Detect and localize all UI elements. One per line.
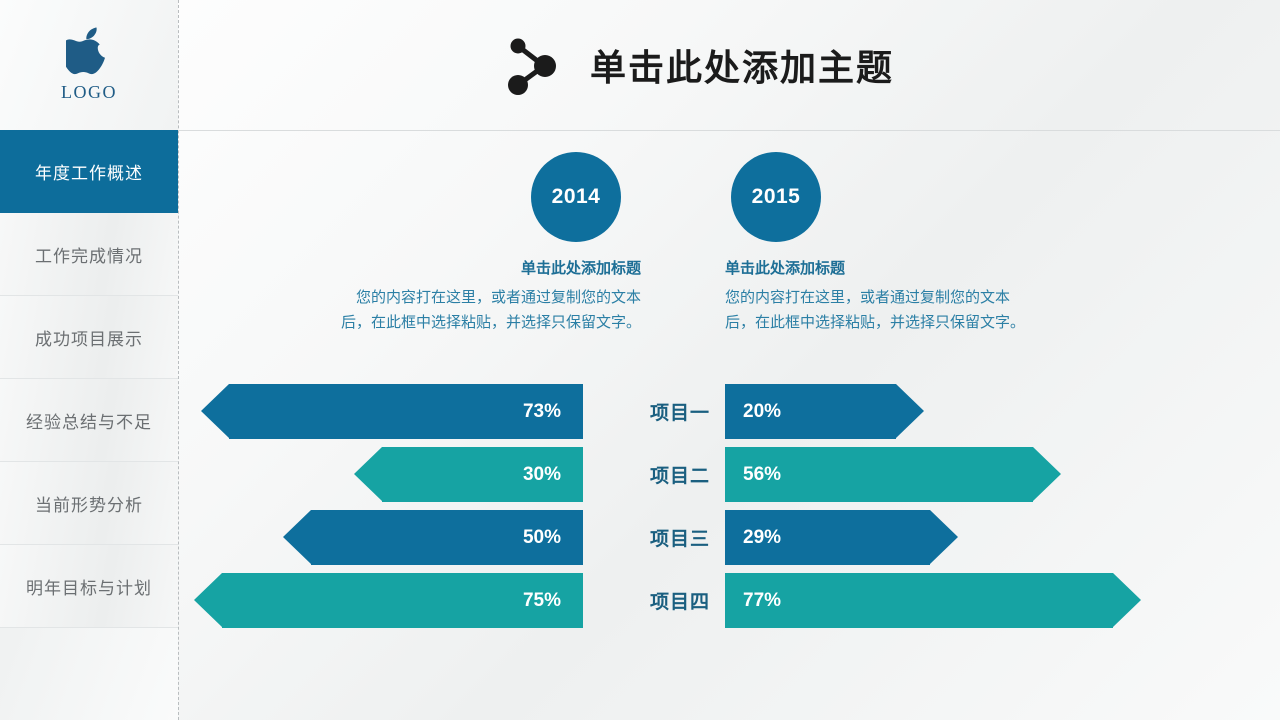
year-label: 2015 bbox=[752, 185, 801, 209]
text-block-title: 单击此处添加标题 bbox=[725, 257, 1025, 278]
bar-right-2[interactable]: 29% bbox=[725, 510, 930, 565]
year-label: 2014 bbox=[552, 185, 601, 209]
text-block-left: 单击此处添加标题 您的内容打在这里，或者通过复制您的文本后，在此框中选择粘贴，并… bbox=[341, 257, 641, 335]
arrow-head-right-icon bbox=[1033, 447, 1061, 501]
bar-value-label: 73% bbox=[523, 401, 561, 423]
logo-label: LOGO bbox=[61, 82, 117, 103]
sidebar-item-label: 年度工作概述 bbox=[35, 159, 143, 184]
text-block-body: 您的内容打在这里，或者通过复制您的文本后，在此框中选择粘贴，并选择只保留文字。 bbox=[341, 285, 641, 335]
bar-value-label: 20% bbox=[743, 401, 781, 423]
header-divider bbox=[178, 130, 1280, 131]
arrow-head-left-icon bbox=[283, 510, 311, 564]
category-label-1: 项目二 bbox=[645, 447, 715, 502]
category-label-2: 项目三 bbox=[645, 510, 715, 565]
text-block-body: 您的内容打在这里，或者通过复制您的文本后，在此框中选择粘贴，并选择只保留文字。 bbox=[725, 285, 1025, 335]
text-block-right: 单击此处添加标题 您的内容打在这里，或者通过复制您的文本后，在此框中选择粘贴，并… bbox=[725, 257, 1025, 335]
slide-header: 单击此处添加主题 bbox=[178, 0, 1280, 130]
sidebar-item-label: 工作完成情况 bbox=[35, 242, 143, 267]
bar-left-3[interactable]: 75% bbox=[222, 573, 583, 628]
arrow-head-right-icon bbox=[896, 384, 924, 438]
bar-value-label: 30% bbox=[523, 464, 561, 486]
year-badge-2014: 2014 bbox=[531, 152, 621, 242]
share-nodes-icon bbox=[504, 34, 562, 96]
year-badge-2015: 2015 bbox=[731, 152, 821, 242]
bar-left-2[interactable]: 50% bbox=[311, 510, 584, 565]
page-title: 单击此处添加主题 bbox=[590, 39, 894, 91]
arrow-head-right-icon bbox=[930, 510, 958, 564]
bidirectional-bar-chart: 73% 项目一 20% 30% 项目二 56% bbox=[0, 384, 1280, 636]
apple-logo-icon bbox=[66, 27, 112, 81]
bar-right-0[interactable]: 20% bbox=[725, 384, 896, 439]
arrow-head-left-icon bbox=[201, 384, 229, 438]
sidebar-item-label: 成功项目展示 bbox=[35, 325, 143, 350]
arrow-head-right-icon bbox=[1113, 573, 1141, 627]
text-block-title: 单击此处添加标题 bbox=[341, 257, 641, 278]
bar-value-label: 77% bbox=[743, 590, 781, 612]
bar-right-3[interactable]: 77% bbox=[725, 573, 1113, 628]
bar-value-label: 29% bbox=[743, 527, 781, 549]
logo-area: LOGO bbox=[0, 0, 178, 130]
chart-row-0: 73% 项目一 20% bbox=[0, 384, 1280, 447]
arrow-head-left-icon bbox=[354, 447, 382, 501]
bar-left-1[interactable]: 30% bbox=[382, 447, 584, 502]
sidebar-item-1[interactable]: 工作完成情况 bbox=[0, 213, 178, 296]
chart-row-3: 75% 项目四 77% bbox=[0, 573, 1280, 636]
arrow-head-left-icon bbox=[194, 573, 222, 627]
bar-right-1[interactable]: 56% bbox=[725, 447, 1033, 502]
chart-row-1: 30% 项目二 56% bbox=[0, 447, 1280, 510]
bar-left-0[interactable]: 73% bbox=[229, 384, 583, 439]
sidebar-item-2[interactable]: 成功项目展示 bbox=[0, 296, 178, 379]
bar-value-label: 75% bbox=[523, 590, 561, 612]
bar-value-label: 50% bbox=[523, 527, 561, 549]
category-label-0: 项目一 bbox=[645, 384, 715, 439]
sidebar-item-0[interactable]: 年度工作概述 bbox=[0, 130, 178, 213]
category-label-3: 项目四 bbox=[645, 573, 715, 628]
bar-value-label: 56% bbox=[743, 464, 781, 486]
chart-row-2: 50% 项目三 29% bbox=[0, 510, 1280, 573]
